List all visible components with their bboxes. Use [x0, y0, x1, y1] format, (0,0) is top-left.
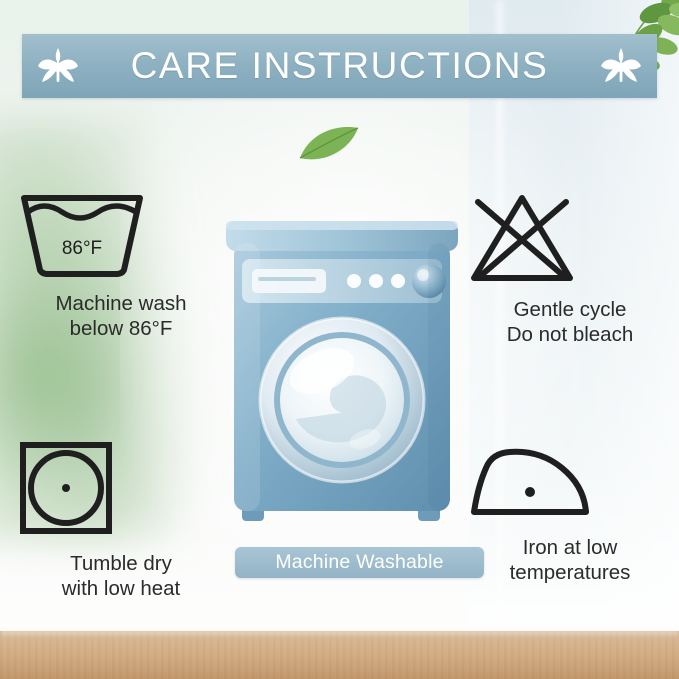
status-badge-label: Machine Washable	[275, 551, 443, 574]
page-title: CARE INSTRUCTIONS	[131, 45, 549, 87]
care-symbol-no-bleach: Gentle cycle Do not bleach	[466, 192, 674, 347]
header-banner: CARE INSTRUCTIONS	[22, 34, 657, 98]
wash-tub-icon: 86°F	[18, 192, 224, 283]
care-symbol-iron-low: Iron at low temperatures	[466, 440, 674, 585]
fleur-de-lis-icon	[36, 44, 80, 88]
care-symbol-label: Iron at low temperatures	[466, 535, 674, 585]
care-symbol-label: Machine wash below 86°F	[18, 291, 224, 341]
wooden-table-edge-highlight	[0, 629, 679, 639]
care-symbol-label: Tumble dry with low heat	[18, 551, 224, 601]
care-symbol-machine-wash: 86°F Machine wash below 86°F	[18, 192, 224, 341]
iron-icon	[466, 440, 674, 525]
single-leaf-icon	[298, 124, 360, 166]
washing-machine-illustration	[222, 207, 462, 537]
tumble-dry-square-circle-icon	[18, 440, 224, 541]
triangle-crossed-no-bleach-icon	[466, 192, 674, 289]
care-symbol-tumble-dry: Tumble dry with low heat	[18, 440, 224, 601]
care-symbol-label: Gentle cycle Do not bleach	[466, 297, 674, 347]
fleur-de-lis-icon	[599, 44, 643, 88]
wash-temperature-text: 86°F	[62, 238, 102, 259]
status-badge: Machine Washable	[235, 547, 484, 578]
care-instructions-image: CARE INSTRUCTIONS	[0, 0, 679, 679]
